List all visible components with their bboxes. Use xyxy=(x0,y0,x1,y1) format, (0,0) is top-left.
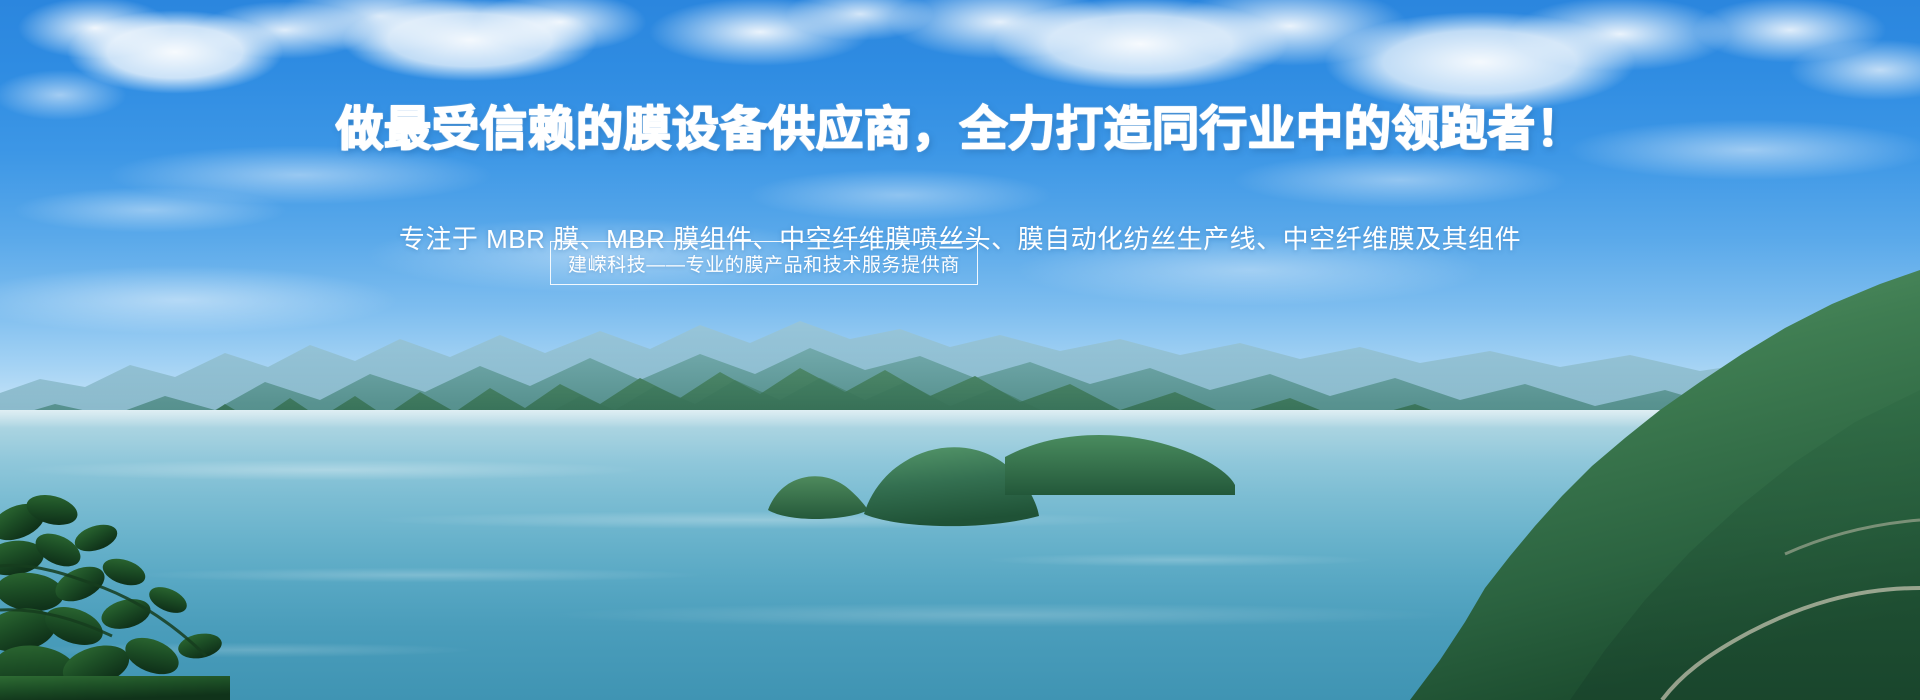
island-small-left xyxy=(762,470,872,522)
foreground-foliage xyxy=(0,480,230,700)
hero-banner: 做最受信赖的膜设备供应商，全力打造同行业中的领跑者！ 专注于 MBR 膜、MBR… xyxy=(0,0,1920,700)
right-forested-bank xyxy=(1280,270,1920,700)
island-right-spit xyxy=(1005,425,1235,495)
